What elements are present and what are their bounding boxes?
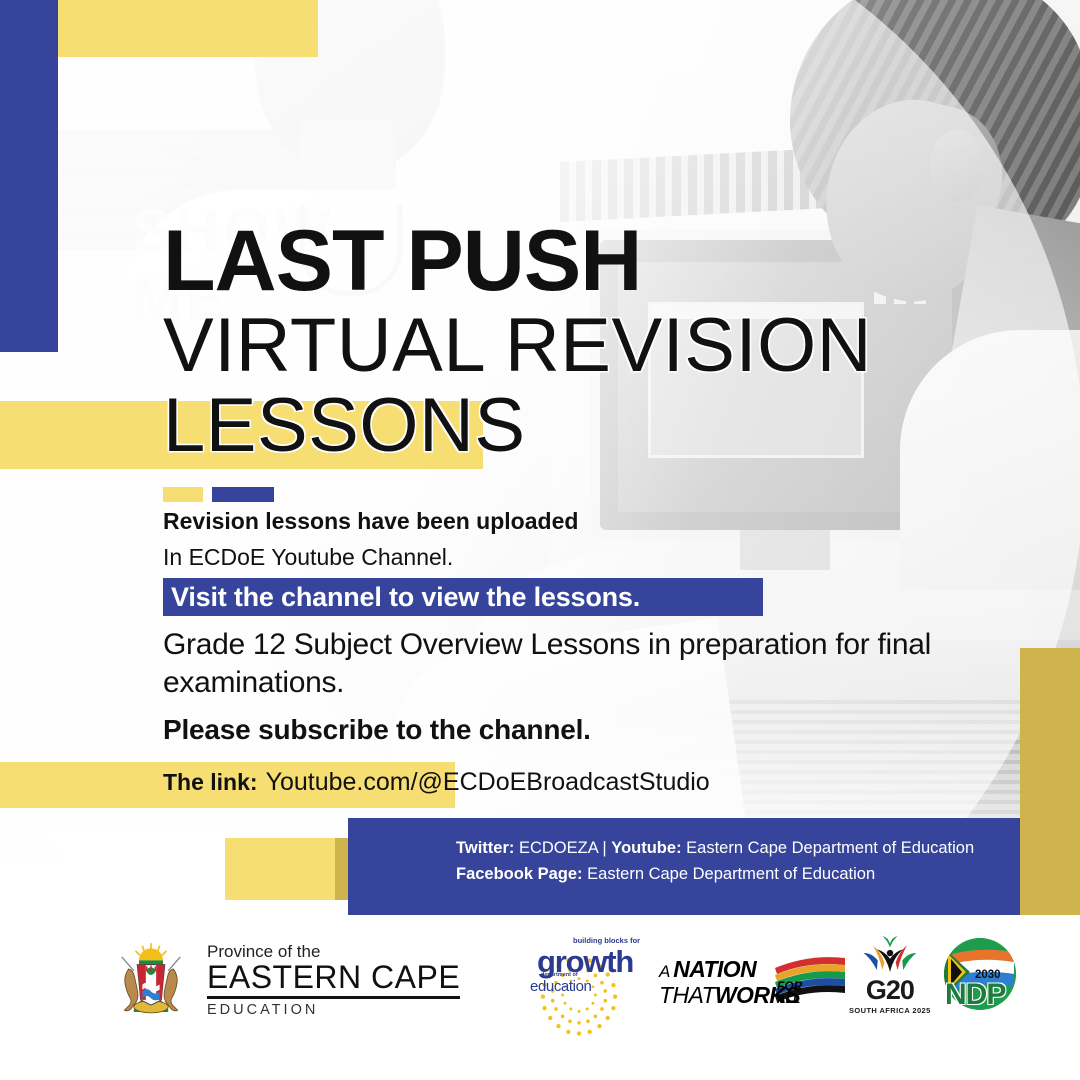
g20-subtitle: SOUTH AFRICA 2025 (849, 1006, 931, 1015)
coat-of-arms-icon (108, 938, 194, 1024)
nation-for: FOR (777, 980, 802, 993)
headline-line-3: LESSONS (163, 387, 1043, 465)
nation-word: NATION (673, 956, 756, 982)
headline-line-2: VIRTUAL REVISION (163, 307, 1043, 385)
g20-emblem-icon (857, 934, 923, 974)
link-label: The link: (163, 769, 258, 796)
body-line-5: Please subscribe to the channel. (163, 714, 591, 746)
growth-logo: building blocks for growth department of… (521, 932, 641, 1036)
youtube-label: Youtube: (611, 839, 681, 857)
twitter-handle: ECDOEZA (519, 839, 598, 857)
social-line-1: Twitter: ECDOEZA | Youtube: Eastern Cape… (456, 836, 1020, 862)
g20-name: G20 (866, 975, 914, 1006)
link-row: The link: Youtube.com/@ECDoEBroadcastStu… (163, 768, 710, 797)
ec-line-3: EDUCATION (207, 1003, 460, 1018)
yellow-right-bar (1020, 648, 1080, 915)
body-line-4: Grade 12 Subject Overview Lessons in pre… (163, 626, 993, 703)
footer-logos: Province of the EASTERN CAPE EDUCATION (0, 928, 1080, 1080)
nation-that: THAT (659, 982, 715, 1008)
headline-line-1: LAST PUSH (163, 222, 1043, 301)
facebook-name: Eastern Cape Department of Education (587, 865, 875, 883)
nation-for-all: FOR ALL (777, 980, 802, 1005)
social-line-2: Facebook Page: Eastern Cape Department o… (456, 862, 1020, 888)
facebook-label: Facebook Page: (456, 865, 583, 883)
growth-education: education (530, 978, 591, 995)
blue-left-bar (0, 0, 58, 352)
yellow-top-bar (58, 0, 318, 57)
poster-canvas: SHOW ME LAST PUSH VIRTUAL REVISION LE (0, 0, 1080, 1080)
headline-block: LAST PUSH VIRTUAL REVISION LESSONS (163, 222, 1043, 464)
eastern-cape-logo: Province of the EASTERN CAPE EDUCATION (108, 938, 460, 1024)
ndp-name: NDP (945, 978, 1005, 1012)
highlight-yellow-band: Please subscribe to the channel. (163, 710, 701, 750)
link-url[interactable]: Youtube.com/@ECDoEBroadcastStudio (266, 768, 710, 797)
nation-a: A (659, 962, 673, 981)
social-separator: | (602, 839, 606, 857)
body-line-1: Revision lessons have been uploaded (163, 508, 1043, 535)
ndp-logo: 2030 NDP (938, 936, 1024, 1018)
g20-logo: G20 SOUTH AFRICA 2025 (849, 934, 931, 1015)
yellow-rule-mark (163, 487, 203, 502)
social-media-bar: Twitter: ECDOEZA | Youtube: Eastern Cape… (348, 818, 1020, 915)
nation-line-1: A NATION (659, 956, 756, 983)
ec-line-2: EASTERN CAPE (207, 961, 460, 999)
student-right-ear (930, 130, 984, 202)
nation-all: ALL (777, 993, 802, 1006)
body-line-2: In ECDoE Youtube Channel. (163, 544, 1043, 571)
body-line-3: Visit the channel to view the lessons. (163, 582, 640, 613)
body-copy-block: Revision lessons have been uploaded In E… (163, 508, 1043, 578)
eastern-cape-text: Province of the EASTERN CAPE EDUCATION (207, 943, 460, 1018)
twitter-label: Twitter: (456, 839, 514, 857)
blue-rule-mark (212, 487, 274, 502)
highlight-blue-band: Visit the channel to view the lessons. (163, 578, 763, 616)
nation-that-works-logo: A NATION THATWORKS FOR ALL (659, 956, 845, 1012)
youtube-name: Eastern Cape Department of Education (686, 839, 974, 857)
